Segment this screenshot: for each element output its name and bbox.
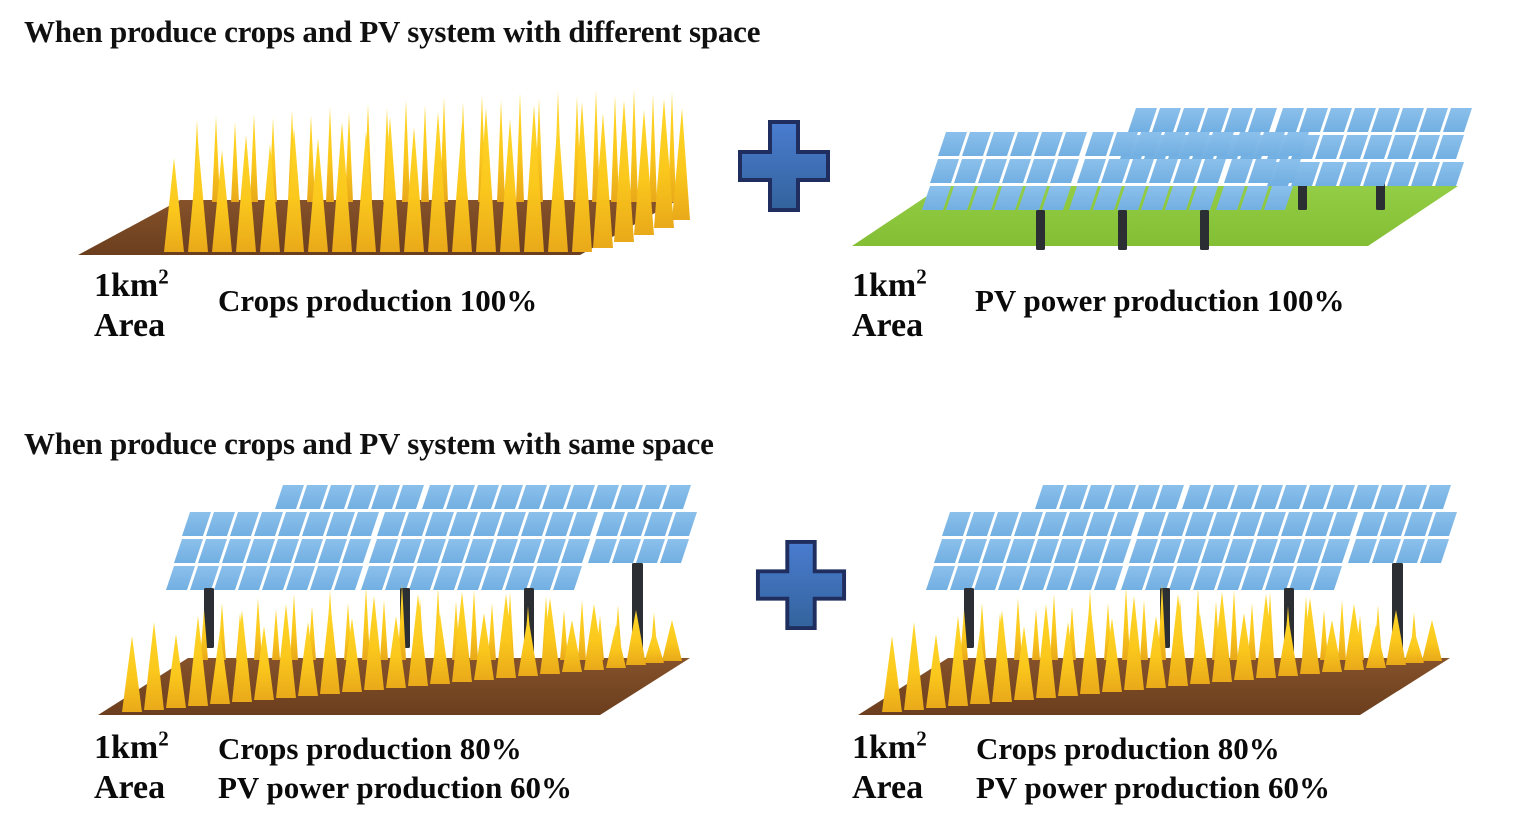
panel-array — [166, 485, 697, 590]
area-label-agrivoltaics-left: 1km2 Area — [94, 728, 169, 808]
area-word: Area — [94, 769, 165, 806]
caption-line-crops: Crops production 80% — [976, 729, 1330, 768]
section-title-different-space: When produce crops and PV system with di… — [24, 14, 760, 50]
area-value: 1km — [94, 267, 158, 304]
plus-icon-bottom — [754, 538, 848, 637]
scene-pv-only — [846, 76, 1486, 276]
scene-agrivoltaics-right — [838, 470, 1478, 730]
area-value: 1km — [94, 729, 158, 766]
agrivoltaics-icon — [838, 470, 1478, 730]
area-superscript: 2 — [158, 727, 169, 751]
caption-crops-only: Crops production 100% — [218, 281, 537, 320]
caption-line: PV power production 100% — [975, 281, 1344, 320]
scene-agrivoltaics-left — [78, 470, 718, 730]
figure-canvas: When produce crops and PV system with di… — [0, 0, 1513, 829]
caption-agrivoltaics-right: Crops production 80% PV power production… — [976, 729, 1330, 807]
area-word: Area — [852, 769, 923, 806]
solar-panel-icon — [846, 76, 1486, 276]
area-superscript: 2 — [916, 727, 927, 751]
area-superscript: 2 — [158, 265, 169, 289]
area-label-pv-only: 1km2 Area — [852, 266, 927, 346]
area-superscript: 2 — [916, 265, 927, 289]
crop-field-icon — [60, 80, 700, 280]
scene-crops-only — [60, 80, 700, 280]
area-value: 1km — [852, 267, 916, 304]
agrivoltaics-icon — [78, 470, 718, 730]
caption-line: Crops production 100% — [218, 281, 537, 320]
section-title-same-space: When produce crops and PV system with sa… — [24, 426, 714, 462]
plus-icon-top — [736, 118, 832, 219]
caption-line-crops: Crops production 80% — [218, 729, 572, 768]
panel-array — [926, 485, 1457, 590]
area-value: 1km — [852, 729, 916, 766]
area-label-agrivoltaics-right: 1km2 Area — [852, 728, 927, 808]
area-label-crops-only: 1km2 Area — [94, 266, 169, 346]
panel-module-front — [922, 132, 1309, 210]
caption-line-pv: PV power production 60% — [218, 768, 572, 807]
caption-line-pv: PV power production 60% — [976, 768, 1330, 807]
area-word: Area — [94, 307, 165, 344]
area-word: Area — [852, 307, 923, 344]
caption-pv-only: PV power production 100% — [975, 281, 1344, 320]
caption-agrivoltaics-left: Crops production 80% PV power production… — [218, 729, 572, 807]
